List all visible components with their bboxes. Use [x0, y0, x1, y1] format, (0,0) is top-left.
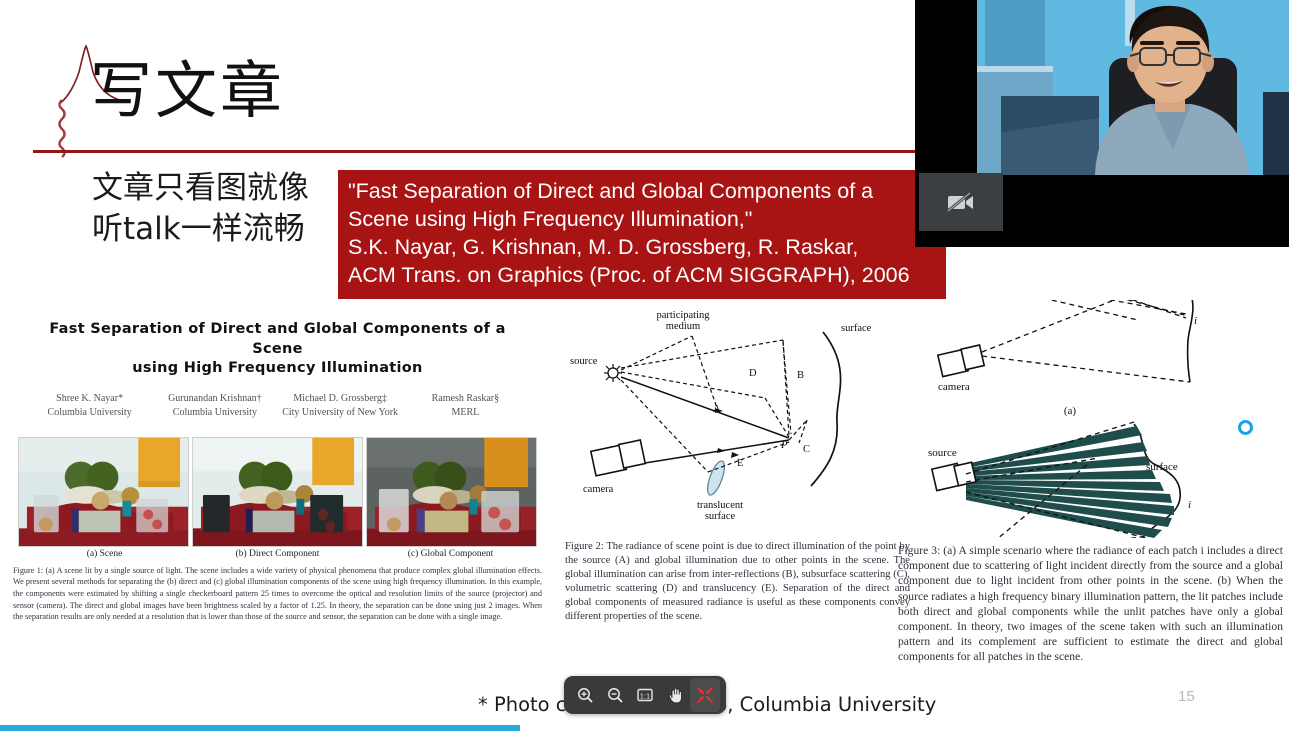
- svg-text:source: source: [570, 356, 598, 367]
- svg-text:i: i: [1188, 499, 1191, 511]
- author-name: Gurunandan Krishnan†: [152, 392, 277, 407]
- figure1-panel-captions: (a) Scene (b) Direct Component (c) Globa…: [18, 549, 537, 559]
- zoom-out-button[interactable]: [600, 678, 630, 712]
- svg-text:medium: medium: [666, 321, 700, 332]
- figure2-diagram: participating medium surface source came…: [565, 300, 910, 540]
- figure1-panel-direct: [192, 437, 363, 547]
- slide-progress-fill: [0, 725, 520, 731]
- pan-tool-button[interactable]: [660, 678, 690, 712]
- exit-fullscreen-button[interactable]: [690, 678, 720, 712]
- cursor-ring: [1238, 420, 1253, 435]
- paper-authors: Shree K. Nayar* Columbia University Guru…: [27, 392, 528, 421]
- magnifier-plus-icon: [577, 687, 594, 704]
- svg-text:surface: surface: [841, 323, 872, 334]
- camera-off-tile[interactable]: [919, 173, 1003, 231]
- author-entry: Gurunandan Krishnan† Columbia University: [152, 392, 277, 421]
- viewer-toolbar[interactable]: 1:1: [564, 676, 726, 714]
- figure1-caption-c: (c) Global Component: [364, 549, 537, 559]
- svg-text:P: P: [780, 440, 788, 451]
- svg-text:surface: surface: [705, 511, 736, 522]
- author-affiliation: Columbia University: [152, 406, 277, 421]
- author-entry: Shree K. Nayar* Columbia University: [27, 392, 152, 421]
- author-affiliation: Columbia University: [27, 406, 152, 421]
- one-to-one-icon: 1:1: [636, 686, 654, 704]
- figure2-camera-icon: [591, 440, 645, 476]
- paper-scan: Fast Separation of Direct and Global Com…: [0, 300, 1289, 700]
- slide-subtitle: 文章只看图就像 听talk一样流畅: [92, 168, 309, 250]
- svg-text:i: i: [1194, 315, 1197, 327]
- svg-text:C: C: [803, 444, 810, 455]
- svg-text:surface: surface: [1146, 461, 1178, 473]
- page-title: 写文章: [90, 60, 285, 122]
- figure3-diagram: i camera (a): [898, 300, 1283, 543]
- slide-progress-track[interactable]: [0, 725, 1289, 731]
- svg-text:translucent: translucent: [697, 500, 743, 511]
- figure3a-camera-icon: [938, 345, 984, 377]
- figure1-image-strip: [18, 437, 537, 547]
- figure1-panel-global: [366, 437, 537, 547]
- paper-column-left: Fast Separation of Direct and Global Com…: [5, 300, 550, 623]
- slide-viewer: 写文章 文章只看图就像 听talk一样流畅 "Fast Separation o…: [0, 0, 1289, 731]
- hand-icon: [667, 686, 684, 704]
- svg-text:D: D: [749, 368, 757, 379]
- author-entry: Michael D. Grossberg‡ City University of…: [278, 392, 403, 421]
- figure1-caption-b: (b) Direct Component: [191, 549, 364, 559]
- svg-text:camera: camera: [938, 381, 970, 393]
- figure1-panel-scene: [18, 437, 189, 547]
- figure2-caption: Figure 2: The radiance of scene point is…: [565, 540, 910, 624]
- paper-column-middle: participating medium surface source came…: [565, 300, 910, 624]
- author-affiliation: City University of New York: [278, 406, 403, 421]
- figure1-caption-a: (a) Scene: [18, 549, 191, 559]
- svg-text:(a): (a): [1064, 405, 1077, 417]
- paper-citation-banner: "Fast Separation of Direct and Global Co…: [338, 170, 946, 299]
- svg-text:camera: camera: [583, 484, 614, 495]
- svg-text:participating: participating: [656, 310, 710, 321]
- paper-title: Fast Separation of Direct and Global Com…: [23, 320, 532, 379]
- author-entry: Ramesh Raskar§ MERL: [403, 392, 528, 421]
- svg-text:1:1: 1:1: [640, 691, 650, 700]
- svg-text:A: A: [713, 404, 721, 415]
- zoom-in-button[interactable]: [570, 678, 600, 712]
- svg-text:B: B: [797, 370, 804, 381]
- camera-off-icon: [946, 191, 976, 213]
- paper-column-right: i camera (a): [898, 300, 1283, 665]
- figure3-caption: Figure 3: (a) A simple scenario where th…: [898, 543, 1283, 665]
- collapse-arrows-icon: [696, 686, 714, 704]
- author-affiliation: MERL: [403, 406, 528, 421]
- webcam-overlay-panel[interactable]: [915, 0, 1289, 247]
- figure1-caption: Figure 1: (a) A scene lit by a single so…: [13, 565, 542, 623]
- svg-text:E: E: [737, 458, 743, 469]
- magnifier-minus-icon: [607, 687, 624, 704]
- author-name: Shree K. Nayar*: [27, 392, 152, 407]
- author-name: Michael D. Grossberg‡: [278, 392, 403, 407]
- actual-size-button[interactable]: 1:1: [630, 678, 660, 712]
- webcam-video-feed[interactable]: [977, 0, 1289, 175]
- page-number: 15: [1178, 688, 1195, 705]
- author-name: Ramesh Raskar§: [403, 392, 528, 407]
- svg-text:source: source: [928, 447, 957, 459]
